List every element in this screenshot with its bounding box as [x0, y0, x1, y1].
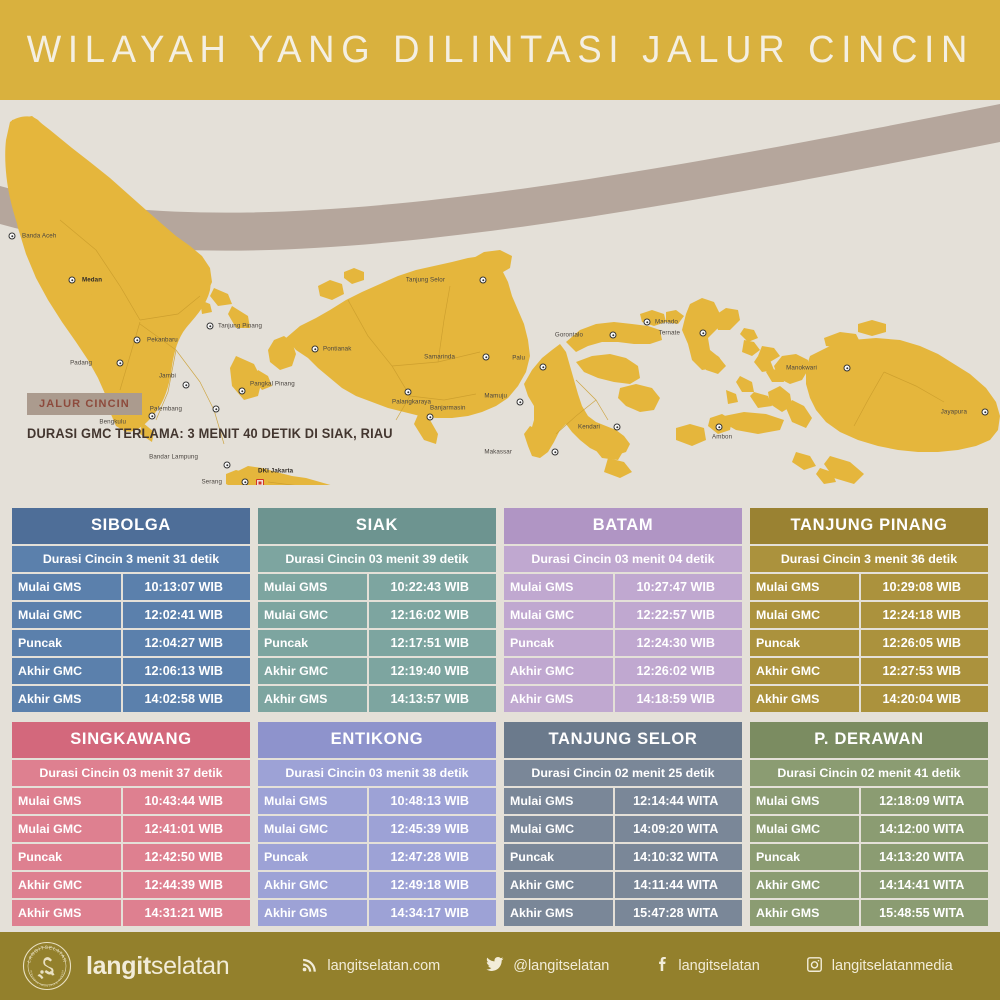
card-row: Akhir GMC12:49:18 WIB: [258, 872, 496, 898]
city-marker: [256, 479, 264, 485]
city-label: Palu: [512, 355, 525, 362]
city-marker: [982, 409, 989, 416]
timing-card: TANJUNG SELORDurasi Cincin 02 menit 25 d…: [504, 722, 742, 926]
card-row-label: Mulai GMC: [750, 816, 859, 842]
card-row-label: Akhir GMC: [750, 658, 859, 684]
city-marker: [242, 479, 249, 486]
city-label: Pekanbaru: [147, 337, 178, 344]
city-marker: [183, 382, 190, 389]
card-row: Puncak12:04:27 WIB: [12, 630, 250, 656]
card-row-value: 14:14:41 WITA: [861, 872, 988, 898]
card-row-value: 10:27:47 WIB: [615, 574, 742, 600]
card-subtitle: Durasi Cincin 3 menit 36 detik: [750, 546, 988, 572]
card-row: Mulai GMS10:43:44 WIB: [12, 788, 250, 814]
card-row-value: 14:13:20 WITA: [861, 844, 988, 870]
card-row-label: Mulai GMS: [750, 574, 859, 600]
card-row-value: 14:34:17 WIB: [369, 900, 496, 926]
card-row-label: Akhir GMS: [12, 900, 121, 926]
city-label: Tanjung Pinang: [218, 323, 262, 330]
card-row: Akhir GMS14:20:04 WIB: [750, 686, 988, 712]
card-subtitle: Durasi Cincin 02 menit 25 detik: [504, 760, 742, 786]
card-row-value: 12:22:57 WIB: [615, 602, 742, 628]
legend-note: DURASI GMC TERLAMA: 3 MENIT 40 DETIK DI …: [27, 426, 393, 441]
card-row: Akhir GMC12:26:02 WIB: [504, 658, 742, 684]
timing-card: SIAKDurasi Cincin 03 menit 39 detikMulai…: [258, 508, 496, 712]
card-row: Akhir GMC12:19:40 WIB: [258, 658, 496, 684]
city-label: DKI Jakarta: [258, 468, 293, 475]
social-link-label: langitselatanmedia: [832, 958, 953, 974]
card-row-label: Akhir GMC: [750, 872, 859, 898]
card-row: Mulai GMS12:18:09 WITA: [750, 788, 988, 814]
timing-card: SINGKAWANGDurasi Cincin 03 menit 37 deti…: [12, 722, 250, 926]
city-label: Tanjung Selor: [406, 277, 445, 284]
timing-card: BATAMDurasi Cincin 03 menit 04 detikMula…: [504, 508, 742, 712]
card-row: Mulai GMS10:22:43 WIB: [258, 574, 496, 600]
city-label: Ternate: [659, 330, 680, 337]
card-row-value: 15:48:55 WITA: [861, 900, 988, 926]
card-title: SIBOLGA: [12, 508, 250, 544]
card-row-value: 12:24:18 WIB: [861, 602, 988, 628]
facebook-icon: [655, 955, 669, 977]
langitselatan-seal-icon: LANGITSELATAN Pustaka Astronomi Indonesi…: [22, 941, 72, 991]
city-label: Ambon: [712, 434, 732, 441]
timing-card: SIBOLGADurasi Cincin 3 menit 31 detikMul…: [12, 508, 250, 712]
page-title: WILAYAH YANG DILINTASI JALUR CINCIN: [26, 29, 973, 72]
card-row-value: 14:18:59 WIB: [615, 686, 742, 712]
city-marker: [224, 462, 231, 469]
card-subtitle: Durasi Cincin 03 menit 39 detik: [258, 546, 496, 572]
map-legend: JALUR CINCIN DURASI GMC TERLAMA: 3 MENIT…: [27, 393, 412, 441]
card-row-value: 10:22:43 WIB: [369, 574, 496, 600]
city-label: Pontianak: [323, 346, 351, 353]
city-marker: [312, 346, 319, 353]
card-row: Puncak14:13:20 WITA: [750, 844, 988, 870]
card-row-label: Mulai GMC: [258, 602, 367, 628]
card-row-value: 12:06:13 WIB: [123, 658, 250, 684]
card-row-label: Mulai GMS: [12, 788, 121, 814]
card-row-value: 10:48:13 WIB: [369, 788, 496, 814]
card-row-label: Mulai GMC: [750, 602, 859, 628]
card-subtitle: Durasi Cincin 03 menit 37 detik: [12, 760, 250, 786]
card-row-label: Mulai GMS: [504, 788, 613, 814]
card-row-label: Mulai GMS: [750, 788, 859, 814]
card-row-value: 12:24:30 WIB: [615, 630, 742, 656]
card-row: Mulai GMS10:29:08 WIB: [750, 574, 988, 600]
city-marker: [716, 424, 723, 431]
card-title: SINGKAWANG: [12, 722, 250, 758]
card-row-value: 12:42:50 WIB: [123, 844, 250, 870]
card-row: Mulai GMC14:09:20 WITA: [504, 816, 742, 842]
card-row-label: Akhir GMC: [504, 658, 613, 684]
social-link-instagram[interactable]: langitselatanmedia: [806, 956, 953, 977]
city-label: Jambi: [159, 373, 176, 380]
card-row: Akhir GMC14:14:41 WITA: [750, 872, 988, 898]
card-row-value: 12:04:27 WIB: [123, 630, 250, 656]
card-row-label: Akhir GMS: [12, 686, 121, 712]
brand-text: langitselatan: [86, 952, 229, 981]
city-marker: [610, 332, 617, 339]
city-marker: [134, 337, 141, 344]
city-marker: [614, 424, 621, 431]
social-link-rss[interactable]: langitselatan.com: [301, 956, 440, 977]
social-link-label: langitselatan: [678, 958, 759, 974]
card-title: TANJUNG PINANG: [750, 508, 988, 544]
card-row: Akhir GMS15:47:28 WITA: [504, 900, 742, 926]
card-row-label: Akhir GMS: [750, 686, 859, 712]
footer-bar: LANGITSELATAN Pustaka Astronomi Indonesi…: [0, 932, 1000, 1000]
city-marker: [700, 330, 707, 337]
city-marker: [207, 323, 214, 330]
card-row-value: 12:44:39 WIB: [123, 872, 250, 898]
card-row: Puncak12:24:30 WIB: [504, 630, 742, 656]
city-marker: [117, 360, 124, 367]
card-row-label: Mulai GMC: [12, 602, 121, 628]
card-row: Akhir GMS14:31:21 WIB: [12, 900, 250, 926]
city-label: Kendari: [578, 424, 600, 431]
card-row: Akhir GMS14:34:17 WIB: [258, 900, 496, 926]
brand-light: selatan: [151, 952, 230, 980]
card-title: TANJUNG SELOR: [504, 722, 742, 758]
social-links: langitselatan.com@langitselatanlangitsel…: [301, 955, 952, 977]
social-link-facebook[interactable]: langitselatan: [655, 955, 759, 977]
indonesia-map: Banda AcehMedanPekanbaruTanjung PinangPa…: [0, 100, 1000, 485]
city-label: Gorontalo: [555, 332, 583, 339]
card-row-value: 10:43:44 WIB: [123, 788, 250, 814]
card-row: Puncak14:10:32 WITA: [504, 844, 742, 870]
twitter-icon: [486, 955, 504, 977]
card-row-label: Puncak: [504, 844, 613, 870]
card-row: Akhir GMS14:02:58 WIB: [12, 686, 250, 712]
card-row-label: Puncak: [12, 630, 121, 656]
social-link-label: langitselatan.com: [327, 958, 440, 974]
card-row-value: 12:26:05 WIB: [861, 630, 988, 656]
city-marker: [480, 277, 487, 284]
card-row-value: 12:49:18 WIB: [369, 872, 496, 898]
city-label: Medan: [82, 277, 102, 284]
card-row: Akhir GMC14:11:44 WITA: [504, 872, 742, 898]
card-row-label: Puncak: [750, 844, 859, 870]
card-row: Puncak12:47:28 WIB: [258, 844, 496, 870]
card-row-label: Puncak: [750, 630, 859, 656]
card-row: Mulai GMC12:41:01 WIB: [12, 816, 250, 842]
card-row-label: Mulai GMC: [12, 816, 121, 842]
brand-bold: langit: [86, 952, 151, 980]
city-marker: [483, 354, 490, 361]
card-title: BATAM: [504, 508, 742, 544]
card-row-value: 12:26:02 WIB: [615, 658, 742, 684]
city-label: Mamuju: [484, 393, 507, 400]
instagram-icon: [806, 956, 823, 977]
card-row-label: Mulai GMS: [12, 574, 121, 600]
card-row-value: 12:02:41 WIB: [123, 602, 250, 628]
city-timing-cards: SIBOLGADurasi Cincin 3 menit 31 detikMul…: [0, 500, 1000, 926]
card-row: Mulai GMC14:12:00 WITA: [750, 816, 988, 842]
card-subtitle: Durasi Cincin 03 menit 38 detik: [258, 760, 496, 786]
card-row-label: Puncak: [258, 630, 367, 656]
card-row-value: 12:47:28 WIB: [369, 844, 496, 870]
card-row-label: Mulai GMS: [504, 574, 613, 600]
card-row-label: Mulai GMC: [258, 816, 367, 842]
card-subtitle: Durasi Cincin 03 menit 04 detik: [504, 546, 742, 572]
social-link-twitter[interactable]: @langitselatan: [486, 955, 609, 977]
card-row: Mulai GMS10:13:07 WIB: [12, 574, 250, 600]
legend-chip-jalur-cincin: JALUR CINCIN: [27, 393, 142, 415]
card-row-label: Puncak: [504, 630, 613, 656]
card-row-label: Puncak: [12, 844, 121, 870]
card-row-label: Akhir GMC: [258, 658, 367, 684]
card-row: Mulai GMS10:48:13 WIB: [258, 788, 496, 814]
social-link-label: @langitselatan: [513, 958, 609, 974]
card-row-value: 12:19:40 WIB: [369, 658, 496, 684]
card-row: Akhir GMS14:13:57 WIB: [258, 686, 496, 712]
city-label: Banjarmasin: [430, 405, 466, 412]
city-label: Banda Aceh: [22, 233, 56, 240]
card-subtitle: Durasi Cincin 02 menit 41 detik: [750, 760, 988, 786]
card-row-label: Akhir GMC: [12, 658, 121, 684]
card-title: SIAK: [258, 508, 496, 544]
card-row-value: 12:41:01 WIB: [123, 816, 250, 842]
city-marker: [844, 365, 851, 372]
card-row-value: 12:17:51 WIB: [369, 630, 496, 656]
card-row: Mulai GMC12:22:57 WIB: [504, 602, 742, 628]
city-label: Serang: [201, 479, 222, 486]
card-title: ENTIKONG: [258, 722, 496, 758]
city-label: Manado: [655, 319, 678, 326]
header-banner: WILAYAH YANG DILINTASI JALUR CINCIN: [0, 0, 1000, 100]
card-row: Akhir GMC12:27:53 WIB: [750, 658, 988, 684]
card-row-value: 12:45:39 WIB: [369, 816, 496, 842]
city-label: Jayapura: [941, 409, 967, 416]
card-row-label: Mulai GMC: [504, 602, 613, 628]
infographic-page: WILAYAH YANG DILINTASI JALUR CINCIN: [0, 0, 1000, 1000]
card-subtitle: Durasi Cincin 3 menit 31 detik: [12, 546, 250, 572]
city-marker: [540, 364, 547, 371]
card-row-label: Mulai GMS: [258, 574, 367, 600]
card-row-label: Akhir GMS: [504, 686, 613, 712]
card-row-label: Mulai GMS: [258, 788, 367, 814]
card-row-value: 12:14:44 WITA: [615, 788, 742, 814]
city-marker: [644, 319, 651, 326]
card-row: Puncak12:17:51 WIB: [258, 630, 496, 656]
card-row-label: Akhir GMS: [258, 900, 367, 926]
card-row: Akhir GMC12:06:13 WIB: [12, 658, 250, 684]
card-row: Akhir GMS14:18:59 WIB: [504, 686, 742, 712]
city-marker: [9, 233, 16, 240]
timing-card: TANJUNG PINANGDurasi Cincin 3 menit 36 d…: [750, 508, 988, 712]
city-label: Pangkal Pinang: [250, 381, 295, 388]
card-row: Mulai GMC12:16:02 WIB: [258, 602, 496, 628]
card-row: Mulai GMS10:27:47 WIB: [504, 574, 742, 600]
card-row-value: 10:13:07 WIB: [123, 574, 250, 600]
city-marker: [517, 399, 524, 406]
card-row-value: 12:18:09 WITA: [861, 788, 988, 814]
card-row-value: 14:10:32 WITA: [615, 844, 742, 870]
card-row-value: 14:09:20 WITA: [615, 816, 742, 842]
card-row-value: 14:02:58 WIB: [123, 686, 250, 712]
card-row-label: Mulai GMC: [504, 816, 613, 842]
city-label: Bandar Lampung: [149, 454, 198, 461]
card-row-value: 14:31:21 WIB: [123, 900, 250, 926]
card-row: Mulai GMS12:14:44 WITA: [504, 788, 742, 814]
card-row: Akhir GMC12:44:39 WIB: [12, 872, 250, 898]
card-row-value: 14:13:57 WIB: [369, 686, 496, 712]
city-label: Manokwari: [786, 365, 817, 372]
card-row-label: Akhir GMS: [258, 686, 367, 712]
card-row-value: 14:20:04 WIB: [861, 686, 988, 712]
card-row-value: 15:47:28 WITA: [615, 900, 742, 926]
card-row-value: 10:29:08 WIB: [861, 574, 988, 600]
card-row-label: Puncak: [258, 844, 367, 870]
card-title: P. DERAWAN: [750, 722, 988, 758]
card-row-value: 12:16:02 WIB: [369, 602, 496, 628]
city-label: Makassar: [484, 449, 512, 456]
card-row: Akhir GMS15:48:55 WITA: [750, 900, 988, 926]
card-row-value: 14:12:00 WITA: [861, 816, 988, 842]
city-marker: [427, 414, 434, 421]
card-row-value: 14:11:44 WITA: [615, 872, 742, 898]
card-row: Puncak12:42:50 WIB: [12, 844, 250, 870]
city-marker: [69, 277, 76, 284]
brand-lockup[interactable]: LANGITSELATAN Pustaka Astronomi Indonesi…: [22, 941, 229, 991]
rss-icon: [301, 956, 318, 977]
city-label: Padang: [70, 360, 92, 367]
card-row-label: Akhir GMC: [504, 872, 613, 898]
card-row: Mulai GMC12:02:41 WIB: [12, 602, 250, 628]
card-row: Mulai GMC12:45:39 WIB: [258, 816, 496, 842]
city-label: Samarinda: [424, 354, 455, 361]
card-row-label: Akhir GMC: [12, 872, 121, 898]
card-row-label: Akhir GMS: [750, 900, 859, 926]
city-marker: [552, 449, 559, 456]
card-row-label: Akhir GMS: [504, 900, 613, 926]
card-row: Puncak12:26:05 WIB: [750, 630, 988, 656]
card-row-value: 12:27:53 WIB: [861, 658, 988, 684]
card-row-label: Akhir GMC: [258, 872, 367, 898]
card-row: Mulai GMC12:24:18 WIB: [750, 602, 988, 628]
timing-card: ENTIKONGDurasi Cincin 03 menit 38 detikM…: [258, 722, 496, 926]
timing-card: P. DERAWANDurasi Cincin 02 menit 41 deti…: [750, 722, 988, 926]
